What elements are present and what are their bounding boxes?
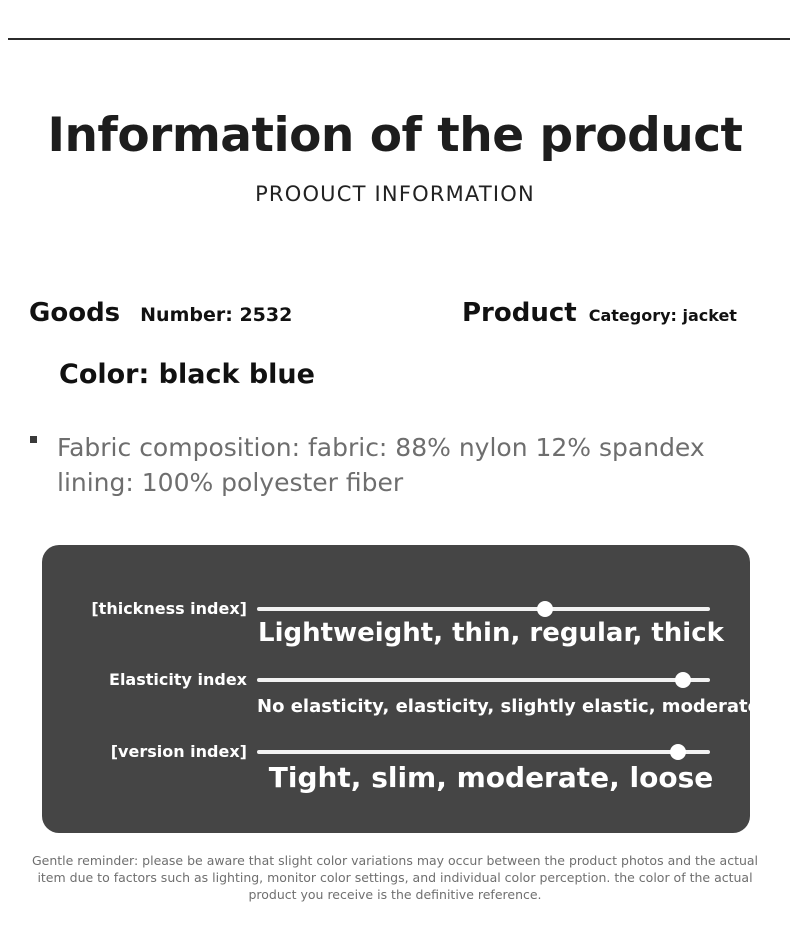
- color-value: Color: black blue: [59, 358, 315, 392]
- thickness-index-options: Lightweight, thin, regular, thick: [257, 617, 725, 649]
- version-index-label: [version index]: [42, 737, 247, 767]
- product-category-group: Product Category: jacket: [462, 298, 737, 331]
- slider-track[interactable]: [257, 678, 710, 682]
- index-card: [thickness index] Lightweight, thin, reg…: [42, 545, 750, 833]
- slider-thumb[interactable]: [675, 672, 691, 688]
- elasticity-index-label: Elasticity index: [42, 665, 247, 695]
- top-divider: [8, 38, 790, 40]
- spec-row: Goods Number: 2532 Product Category: jac…: [0, 298, 790, 338]
- page-title: Information of the product: [0, 106, 790, 166]
- slider-thumb[interactable]: [537, 601, 553, 617]
- product-category-value: Category: jacket: [589, 301, 737, 331]
- slider-thumb[interactable]: [670, 744, 686, 760]
- goods-number-value: Number: 2532: [140, 300, 292, 330]
- goods-number-group: Goods Number: 2532: [29, 298, 292, 330]
- slider-track[interactable]: [257, 607, 710, 611]
- elasticity-index-slider[interactable]: [257, 665, 725, 695]
- square-bullet-icon: [30, 436, 37, 443]
- slider-track[interactable]: [257, 750, 710, 754]
- thickness-index-label: [thickness index]: [42, 594, 247, 624]
- elasticity-index-row: Elasticity index: [42, 665, 750, 695]
- color-disclaimer-note: Gentle reminder: please be aware that sl…: [24, 852, 766, 903]
- page-subtitle: PROOUCT INFORMATION: [0, 180, 790, 208]
- fabric-composition: Fabric composition: fabric: 88% nylon 12…: [30, 430, 730, 500]
- product-information-page: Information of the product PROOUCT INFOR…: [0, 0, 790, 945]
- product-label: Product: [462, 298, 577, 328]
- version-index-options: Tight, slim, moderate, loose: [257, 761, 725, 795]
- goods-label: Goods: [29, 298, 120, 328]
- elasticity-index-options: No elasticity, elasticity, slightly elas…: [257, 695, 725, 719]
- fabric-composition-text: Fabric composition: fabric: 88% nylon 12…: [57, 430, 730, 500]
